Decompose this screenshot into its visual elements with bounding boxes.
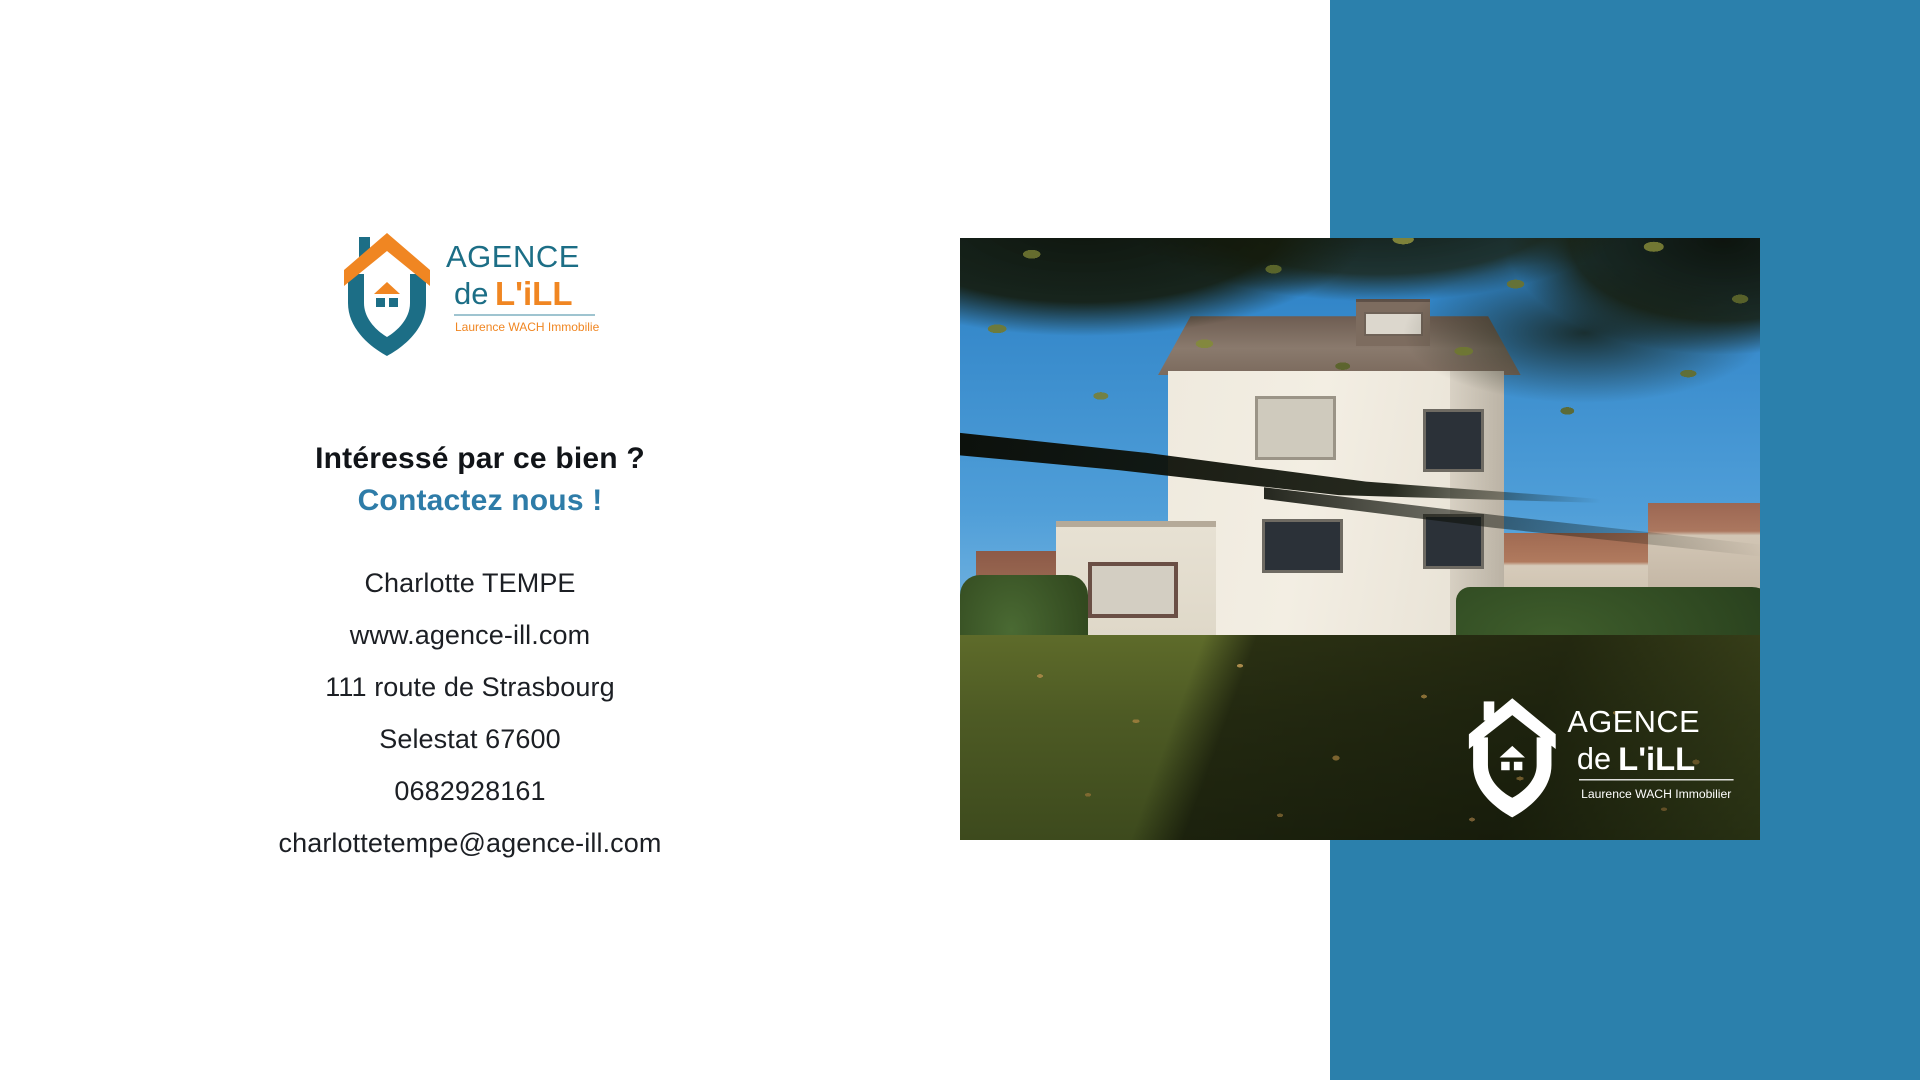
watermark-lill-text: L'iLL — [1618, 740, 1695, 777]
contact-phone[interactable]: 0682928161 — [40, 778, 900, 805]
logo-de-text: de — [454, 276, 488, 311]
watermark-tagline-text: Laurence WACH Immobilier — [1581, 787, 1731, 801]
logo-lill-text: L'iLL — [495, 275, 573, 312]
call-to-action-text: Contactez nous ! — [60, 482, 900, 520]
contact-website[interactable]: www.agence-ill.com — [40, 622, 900, 649]
headings-block: Intéressé par ce bien ? Contactez nous ! — [60, 440, 900, 521]
contact-city-postcode: Selestat 67600 — [40, 726, 900, 753]
page-title: Intéressé par ce bien ? — [60, 440, 900, 478]
contact-slide: AGENCE de L'iLL Laurence WACH Immobilier… — [0, 0, 1920, 1080]
contact-street: 111 route de Strasbourg — [40, 674, 900, 701]
watermark-agence-text: AGENCE — [1567, 704, 1700, 739]
watermark-de-text: de — [1577, 741, 1611, 776]
photo-watermark-logo: AGENCE de L'iLL Laurence WACH Immobilier — [1454, 694, 1740, 820]
property-photo: AGENCE de L'iLL Laurence WACH Immobilier — [960, 238, 1760, 840]
left-content-column: AGENCE de L'iLL Laurence WACH Immobilier… — [0, 0, 900, 1080]
contact-email[interactable]: charlottetempe@agence-ill.com — [40, 830, 900, 857]
agency-logo: AGENCE de L'iLL Laurence WACH Immobilier — [330, 228, 600, 360]
logo-agence-text: AGENCE — [446, 239, 580, 274]
tree-leaves — [960, 238, 1760, 575]
contact-details-block: Charlotte TEMPE www.agence-ill.com 111 r… — [40, 570, 900, 857]
contact-agent-name: Charlotte TEMPE — [40, 570, 900, 597]
logo-tagline-text: Laurence WACH Immobilier — [455, 320, 600, 334]
